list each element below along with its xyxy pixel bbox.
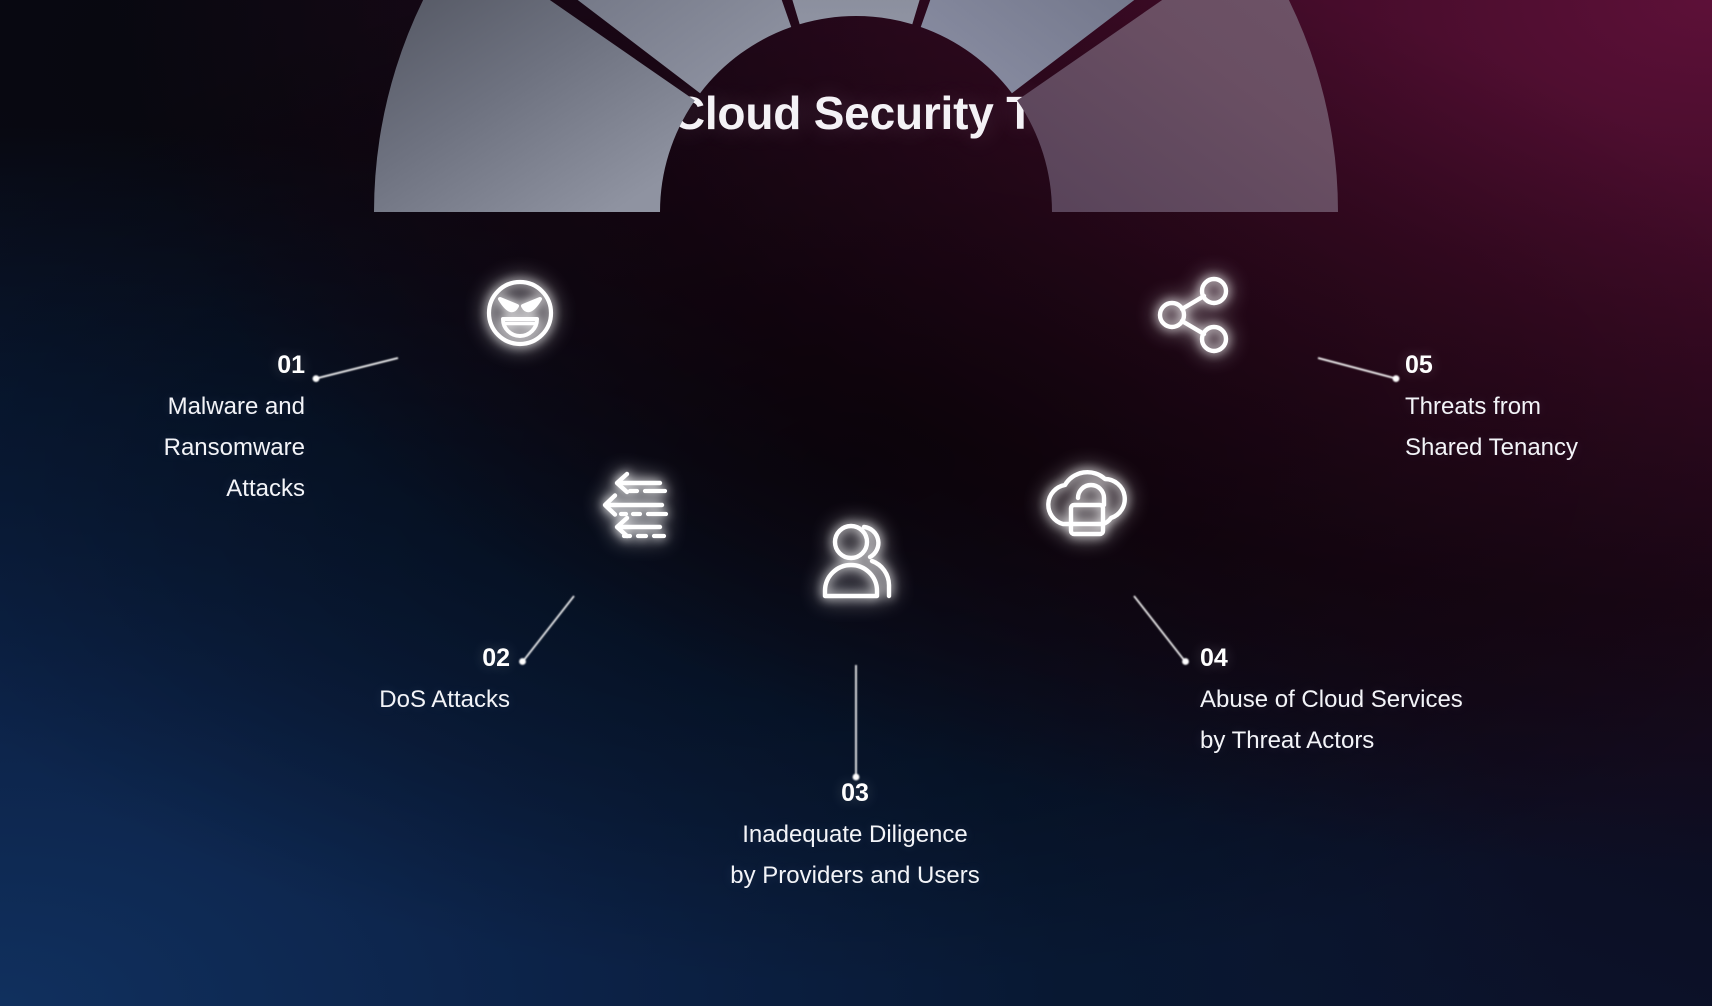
callout-02: 02 DoS Attacks — [140, 645, 510, 720]
share-nodes-icon — [1160, 279, 1226, 351]
callout-number-05: 05 — [1405, 352, 1705, 380]
callout-number-03: 03 — [620, 780, 1090, 808]
callout-text-05: Threats from Shared Tenancy — [1405, 386, 1705, 469]
callout-text-01: Malware and Ransomware Attacks — [60, 386, 305, 510]
cloud-unlocked-padlock-icon — [1048, 472, 1124, 534]
evil-grinning-face-icon — [489, 282, 551, 344]
callout-05: 05 Threats from Shared Tenancy — [1405, 352, 1705, 468]
two-users-icon — [825, 526, 889, 596]
callout-text-02: DoS Attacks — [140, 679, 510, 720]
callout-number-04: 04 — [1200, 645, 1620, 673]
incoming-traffic-arrows-icon — [605, 474, 666, 536]
callout-03: 03 Inadequate Diligence by Providers and… — [620, 780, 1090, 896]
callout-01: 01 Malware and Ransomware Attacks — [60, 352, 305, 509]
callout-number-02: 02 — [140, 645, 510, 673]
connector-04 — [1134, 596, 1189, 665]
callout-04: 04 Abuse of Cloud Services by Threat Act… — [1200, 645, 1620, 761]
callout-text-03: Inadequate Diligence by Providers and Us… — [620, 814, 1090, 897]
connector-02 — [519, 596, 574, 665]
connector-05 — [1318, 358, 1399, 382]
connector-03 — [853, 665, 860, 780]
callout-text-04: Abuse of Cloud Services by Threat Actors — [1200, 679, 1620, 762]
connector-01 — [313, 358, 398, 382]
callout-number-01: 01 — [60, 352, 305, 380]
donut-final — [374, 0, 1338, 212]
